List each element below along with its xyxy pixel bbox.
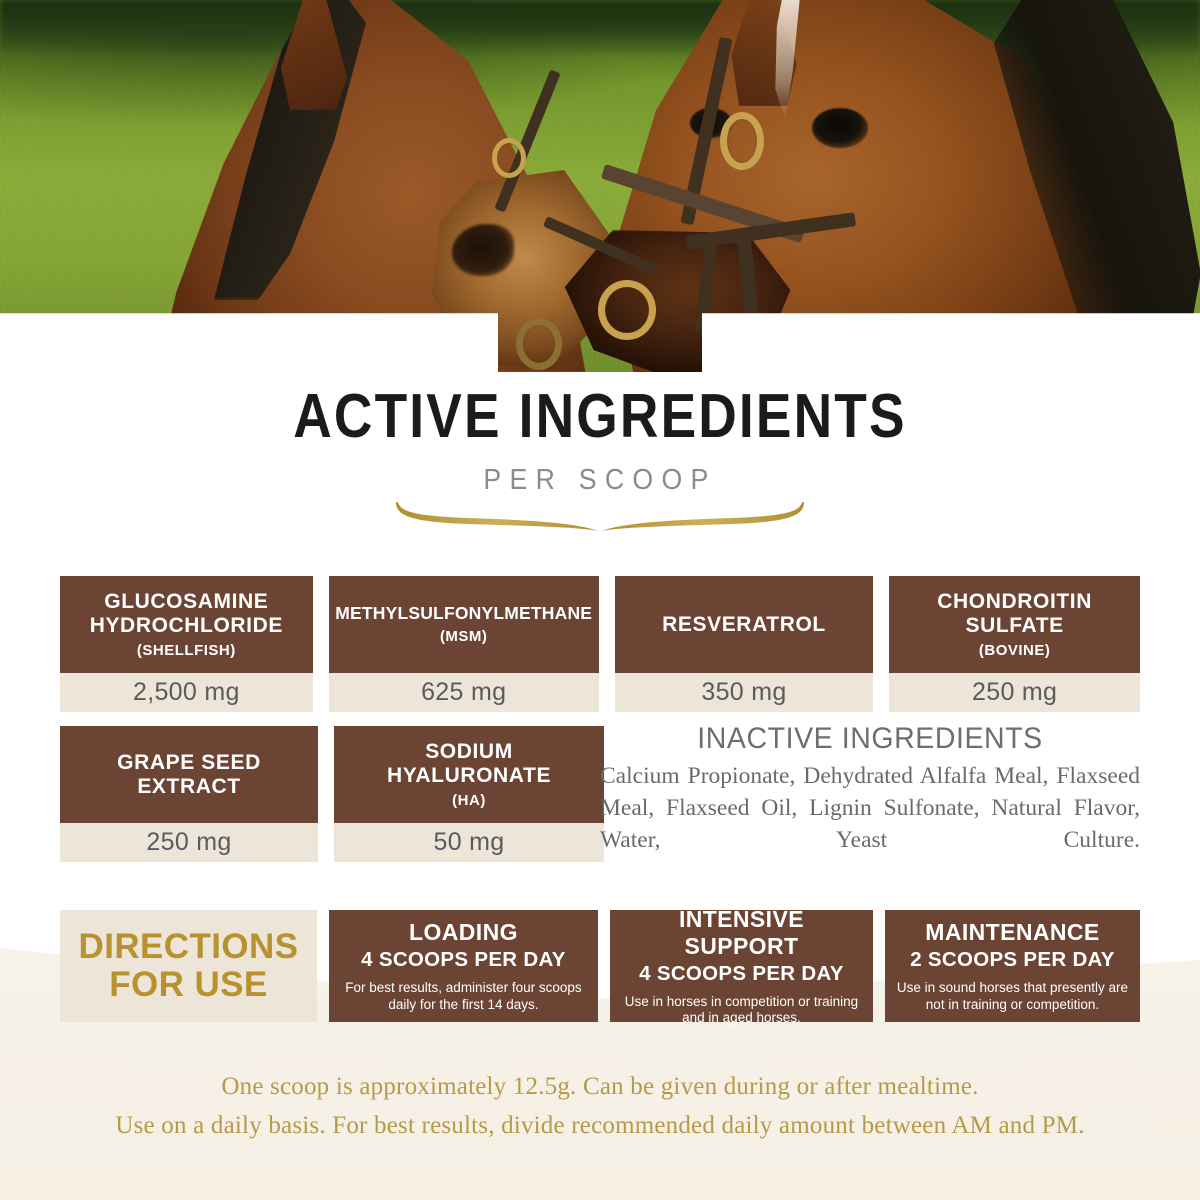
inactive-ingredients-title: INACTIVE INGREDIENTS: [614, 722, 1127, 756]
ingredient-source: (BOVINE): [979, 642, 1051, 659]
ingredient-amount: 250 mg: [60, 823, 318, 862]
directions-heading: MAINTENANCE: [925, 919, 1099, 946]
ingredient-card-grape-seed: GRAPE SEED EXTRACT 250 mg: [60, 726, 318, 862]
halter-ring-lower: [516, 318, 562, 370]
inactive-ingredients-block: INACTIVE INGREDIENTS Calcium Propionate,…: [600, 722, 1140, 857]
directions-dose: 4 SCOOPS PER DAY: [639, 962, 844, 986]
ingredient-name: METHYLSULFONYLMETHANE: [335, 604, 592, 624]
halter-ring-center: [598, 280, 656, 340]
ingredient-card-header: RESVERATROL: [615, 576, 874, 673]
hero-photo-horses: [0, 0, 1200, 372]
left-halter-ring: [492, 138, 526, 178]
directions-dose: 4 SCOOPS PER DAY: [361, 948, 566, 972]
ingredient-name: SODIUM HYALURONATE: [342, 740, 596, 787]
footer-line-2: Use on a daily basis. For best results, …: [0, 1107, 1200, 1146]
ingredient-source: (MSM): [440, 628, 488, 645]
ingredient-name: GLUCOSAMINE HYDROCHLORIDE: [68, 590, 305, 637]
left-foal-nostril: [452, 224, 514, 276]
ingredient-card-header: SODIUM HYALURONATE (HA): [334, 726, 604, 823]
ingredient-card-header: GLUCOSAMINE HYDROCHLORIDE (SHELLFISH): [60, 576, 313, 673]
ingredient-card-header: METHYLSULFONYLMETHANE (MSM): [329, 576, 599, 673]
directions-heading: INTENSIVE SUPPORT: [620, 906, 863, 960]
directions-label-text: DIRECTIONS FOR USE: [79, 928, 299, 1004]
directions-detail: Use in sound horses that presently are n…: [895, 980, 1130, 1013]
ingredient-amount: 2,500 mg: [60, 673, 313, 712]
directions-detail: Use in horses in competition or training…: [620, 994, 863, 1027]
directions-label-line1: DIRECTIONS: [79, 928, 299, 966]
product-ingredients-infographic: ACTIVE INGREDIENTS PER SCOOP GLUCOSAMINE…: [0, 0, 1200, 1200]
right-foal-eye: [812, 108, 868, 148]
ingredient-amount: 250 mg: [889, 673, 1140, 712]
ingredient-card-resveratrol: RESVERATROL 350 mg: [615, 576, 874, 712]
inactive-ingredients-list: Calcium Propionate, Dehydrated Alfalfa M…: [600, 761, 1140, 857]
footer-note: One scoop is approximately 12.5g. Can be…: [0, 1068, 1200, 1146]
ingredient-amount: 350 mg: [615, 673, 874, 712]
page-title: ACTIVE INGREDIENTS: [84, 386, 1116, 448]
page-subtitle: PER SCOOP: [48, 464, 1152, 497]
title-block: ACTIVE INGREDIENTS PER SCOOP: [0, 386, 1200, 497]
halter-ring-top: [720, 112, 764, 170]
directions-card-maintenance: MAINTENANCE 2 SCOOPS PER DAY Use in soun…: [885, 910, 1140, 1022]
ingredient-source: (HA): [452, 792, 486, 809]
ingredient-row-1: GLUCOSAMINE HYDROCHLORIDE (SHELLFISH) 2,…: [60, 576, 1140, 712]
ingredient-name: GRAPE SEED EXTRACT: [68, 751, 310, 798]
ingredient-amount: 50 mg: [334, 823, 604, 862]
ingredient-name: CHONDROITIN SULFATE: [897, 590, 1132, 637]
directions-card-loading: LOADING 4 SCOOPS PER DAY For best result…: [329, 910, 598, 1022]
ingredient-card-sodium-hyaluronate: SODIUM HYALURONATE (HA) 50 mg: [334, 726, 604, 862]
directions-dose: 2 SCOOPS PER DAY: [910, 948, 1115, 972]
ingredient-card-glucosamine: GLUCOSAMINE HYDROCHLORIDE (SHELLFISH) 2,…: [60, 576, 313, 712]
flourish-divider-icon: [390, 498, 810, 538]
ingredient-card-header: GRAPE SEED EXTRACT: [60, 726, 318, 823]
directions-label-line2: FOR USE: [79, 966, 299, 1004]
directions-for-use-section: DIRECTIONS FOR USE LOADING 4 SCOOPS PER …: [60, 910, 1140, 1022]
directions-detail: For best results, administer four scoops…: [339, 980, 588, 1013]
directions-card-intensive-support: INTENSIVE SUPPORT 4 SCOOPS PER DAY Use i…: [610, 910, 873, 1022]
ingredient-name: RESVERATROL: [662, 613, 826, 637]
ingredient-amount: 625 mg: [329, 673, 599, 712]
ingredient-card-msm: METHYLSULFONYLMETHANE (MSM) 625 mg: [329, 576, 599, 712]
ingredient-card-header: CHONDROITIN SULFATE (BOVINE): [889, 576, 1140, 673]
ingredient-source: (SHELLFISH): [137, 642, 236, 659]
directions-heading: LOADING: [409, 919, 518, 946]
directions-label: DIRECTIONS FOR USE: [60, 910, 317, 1022]
footer-line-1: One scoop is approximately 12.5g. Can be…: [0, 1068, 1200, 1107]
ingredient-card-chondroitin: CHONDROITIN SULFATE (BOVINE) 250 mg: [889, 576, 1140, 712]
